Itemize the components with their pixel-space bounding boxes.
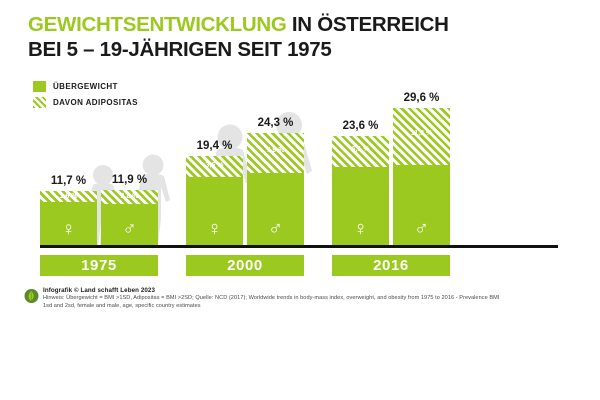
bar-body: 1,6 % ♀ <box>40 191 97 245</box>
male-symbol-icon: ♂ <box>101 220 158 239</box>
bar-group-2016: 23,6 % 6,1 % ♀ 29,6 % 11,3 % ♂ <box>332 108 450 245</box>
bar-total-label: 24,3 % <box>247 117 304 129</box>
bar-group-2000: 19,4 % 3,6 % ♀ 24,3 % 7,9 % ♂ <box>186 133 304 245</box>
footer: Infografik © Land schafft Leben 2023 Hin… <box>24 286 584 310</box>
year-label-text: 2000 <box>227 257 263 274</box>
bar-body: 11,3 % ♂ <box>393 108 450 245</box>
female-symbol-icon: ♀ <box>40 220 97 239</box>
female-symbol-icon: ♀ <box>332 219 389 239</box>
footer-credit: Infografik © Land schafft Leben 2023 <box>43 287 499 295</box>
bar-body: 7,9 % ♂ <box>247 133 304 245</box>
bar-body: 2,8 % ♂ <box>101 190 158 245</box>
bar-obesity-label: 6,1 % <box>332 146 389 153</box>
male-symbol-icon: ♂ <box>247 219 304 239</box>
bar-body: 3,6 % ♀ <box>186 156 243 245</box>
bar-total-label: 23,6 % <box>332 120 389 132</box>
footer-note-line-1: Hinweis: Übergewicht = BMI >1SD, Adiposi… <box>43 295 499 303</box>
year-label-text: 1975 <box>81 257 117 274</box>
chart-area: 11,7 % 1,6 % ♀ 11,9 % 2,8 % ♂ <box>0 0 600 400</box>
bar-obesity-label: 3,6 % <box>186 162 243 169</box>
year-labels: 1975 2000 2016 <box>40 255 558 277</box>
footer-note-line-2: 1sd and 2sd, female and male, age, speci… <box>43 303 499 311</box>
year-label-text: 2016 <box>373 257 409 274</box>
bar-total-label: 19,4 % <box>186 140 243 152</box>
bar-2000-male[interactable]: 24,3 % 7,9 % ♂ <box>247 133 304 245</box>
bar-group-1975: 11,7 % 1,6 % ♀ 11,9 % 2,8 % ♂ <box>40 190 158 245</box>
year-label-2016[interactable]: 2016 <box>332 255 450 276</box>
bar-obesity-label: 11,3 % <box>393 130 450 137</box>
leaf-logo-icon <box>24 288 39 304</box>
footer-text-block: Infografik © Land schafft Leben 2023 Hin… <box>43 286 499 310</box>
bar-total-label: 11,9 % <box>101 174 158 186</box>
bar-obesity-label: 1,6 % <box>40 193 97 200</box>
male-symbol-icon: ♂ <box>393 219 450 239</box>
bar-groups: 11,7 % 1,6 % ♀ 11,9 % 2,8 % ♂ <box>40 60 558 245</box>
bar-obesity-label: 2,8 % <box>101 193 158 200</box>
bar-2000-female[interactable]: 19,4 % 3,6 % ♀ <box>186 156 243 245</box>
axis-baseline <box>40 245 558 248</box>
bar-total-label: 29,6 % <box>393 92 450 104</box>
bar-total-label: 11,7 % <box>40 175 97 187</box>
bar-body: 6,1 % ♀ <box>332 136 389 245</box>
bar-1975-female[interactable]: 11,7 % 1,6 % ♀ <box>40 191 97 245</box>
year-label-2000[interactable]: 2000 <box>186 255 304 276</box>
year-label-1975[interactable]: 1975 <box>40 255 158 276</box>
infographic-canvas: GEWICHTSENTWICKLUNG IN ÖSTERREICH BEI 5 … <box>0 0 600 400</box>
female-symbol-icon: ♀ <box>186 219 243 239</box>
bar-2016-male[interactable]: 29,6 % 11,3 % ♂ <box>393 108 450 245</box>
bar-2016-female[interactable]: 23,6 % 6,1 % ♀ <box>332 136 389 245</box>
bar-obesity-label: 7,9 % <box>247 147 304 154</box>
bar-1975-male[interactable]: 11,9 % 2,8 % ♂ <box>101 190 158 245</box>
